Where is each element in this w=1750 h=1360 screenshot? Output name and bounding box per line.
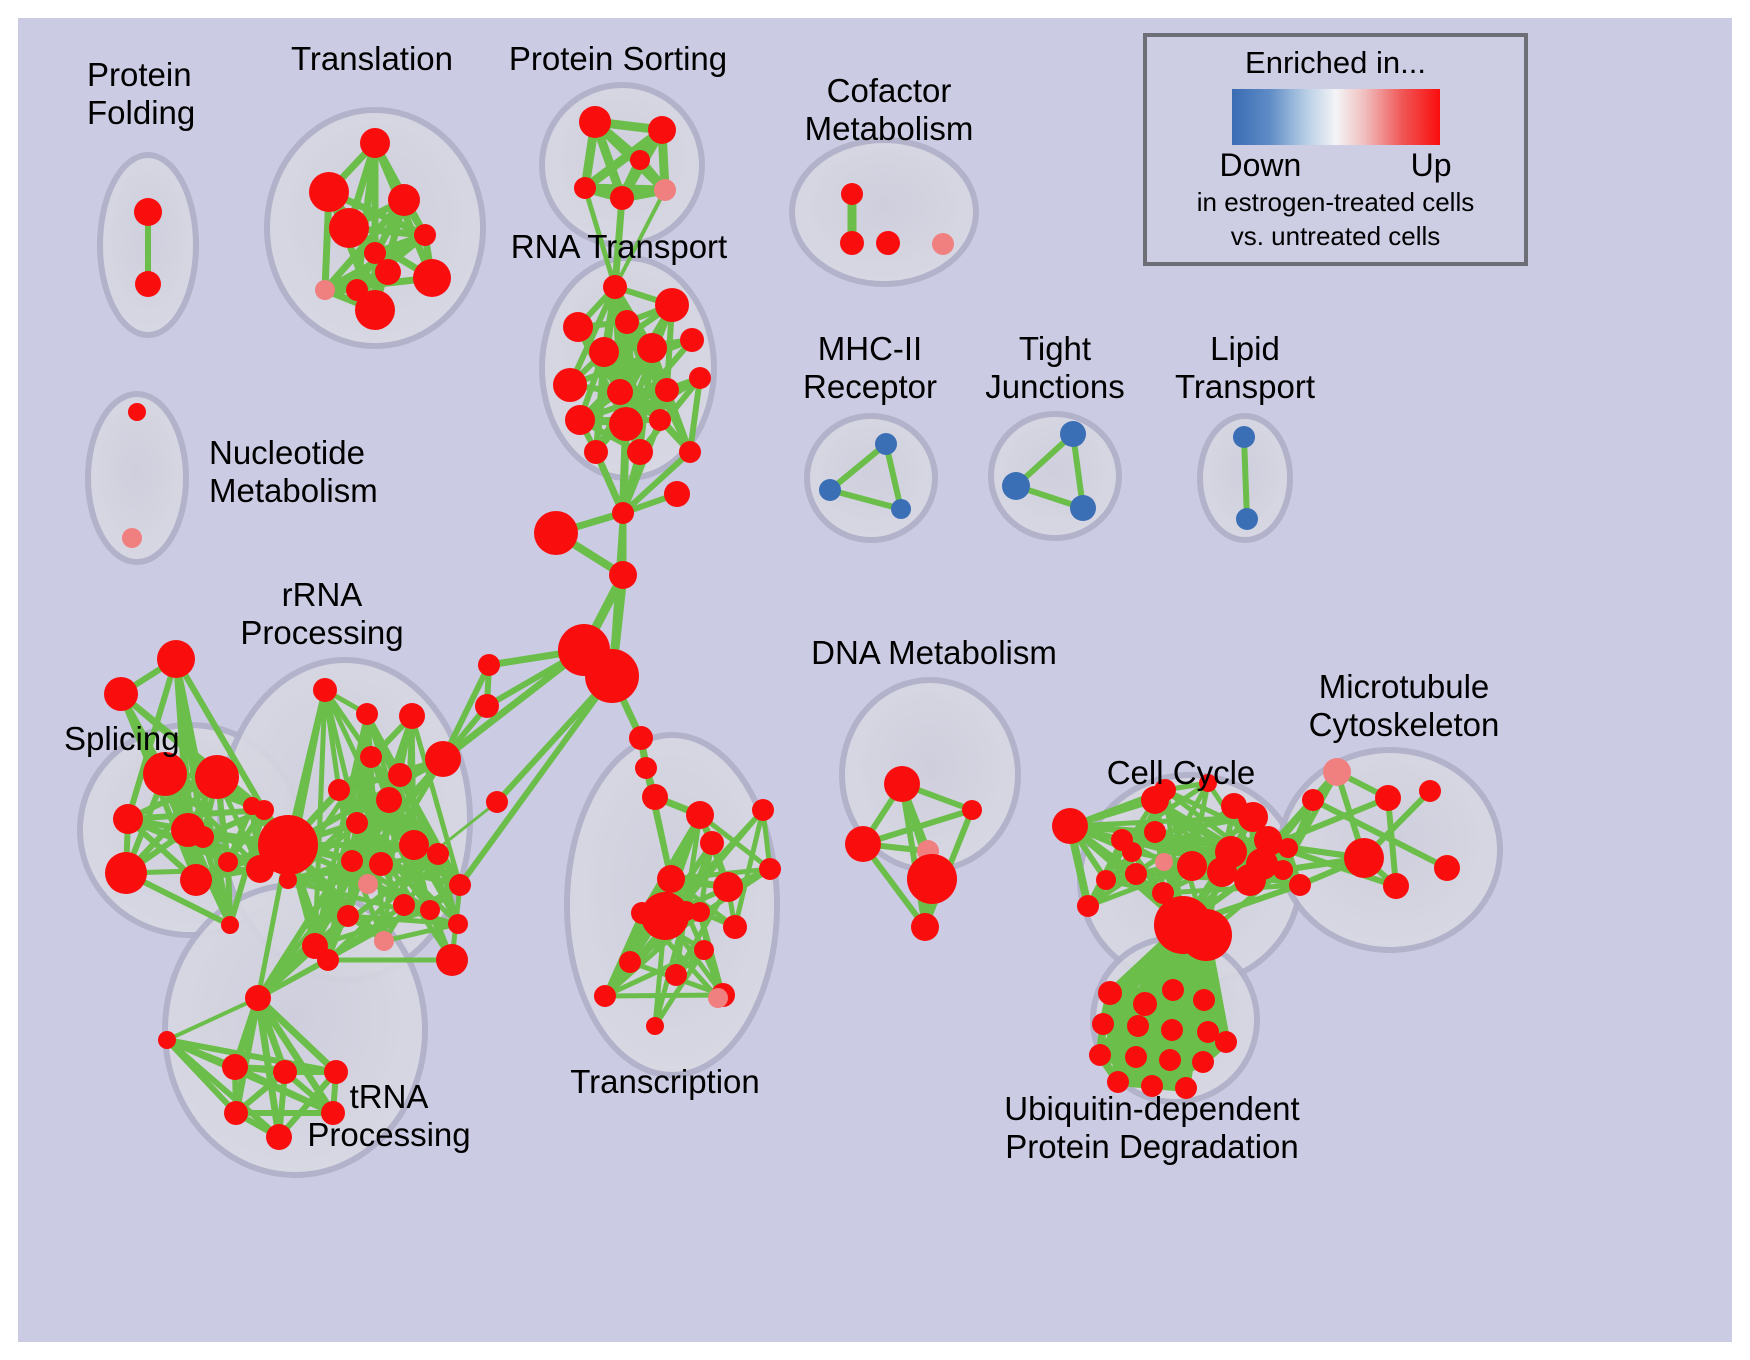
- network-edge: [605, 995, 723, 996]
- network-node[interactable]: [752, 799, 774, 821]
- network-node[interactable]: [195, 755, 239, 799]
- network-node[interactable]: [884, 766, 920, 802]
- network-node[interactable]: [664, 481, 690, 507]
- network-node[interactable]: [158, 1031, 176, 1049]
- network-node[interactable]: [1127, 1015, 1149, 1037]
- network-node[interactable]: [686, 801, 714, 829]
- network-node[interactable]: [642, 784, 668, 810]
- network-node[interactable]: [1383, 873, 1409, 899]
- network-node[interactable]: [478, 654, 500, 676]
- network-node[interactable]: [635, 757, 657, 779]
- network-node[interactable]: [630, 150, 650, 170]
- network-node[interactable]: [629, 726, 653, 750]
- network-node[interactable]: [1207, 857, 1237, 887]
- network-node[interactable]: [420, 900, 440, 920]
- network-node[interactable]: [1193, 989, 1215, 1011]
- network-node[interactable]: [1098, 981, 1122, 1005]
- network-node[interactable]: [610, 186, 634, 210]
- cluster-label-trna-processing: tRNA Processing: [307, 1078, 470, 1154]
- cluster-label-rna-transport: RNA Transport: [511, 228, 727, 266]
- network-node[interactable]: [574, 177, 596, 199]
- network-node[interactable]: [649, 409, 671, 431]
- cluster-label-nucleotide: Nucleotide Metabolism: [209, 434, 378, 510]
- network-node[interactable]: [266, 1124, 292, 1150]
- cluster-label-cofactor: Cofactor Metabolism: [805, 72, 974, 148]
- network-node[interactable]: [1070, 495, 1096, 521]
- cluster-hull-cofactor: [792, 140, 976, 284]
- network-node[interactable]: [1236, 508, 1258, 530]
- network-node[interactable]: [356, 703, 378, 725]
- network-node[interactable]: [655, 288, 689, 322]
- network-node[interactable]: [911, 913, 939, 941]
- network-node[interactable]: [1302, 789, 1324, 811]
- network-node[interactable]: [553, 368, 587, 402]
- network-node[interactable]: [374, 931, 394, 951]
- network-node[interactable]: [641, 892, 689, 940]
- network-node[interactable]: [436, 944, 468, 976]
- network-node[interactable]: [1144, 821, 1166, 843]
- network-node[interactable]: [315, 280, 335, 300]
- network-node[interactable]: [1077, 895, 1099, 917]
- network-node[interactable]: [1434, 855, 1460, 881]
- network-node[interactable]: [180, 864, 212, 896]
- network-node[interactable]: [603, 275, 627, 299]
- network-node[interactable]: [679, 441, 701, 463]
- network-node[interactable]: [1092, 1013, 1114, 1035]
- network-node[interactable]: [589, 337, 619, 367]
- network-node[interactable]: [135, 271, 161, 297]
- network-node[interactable]: [694, 940, 714, 960]
- network-node[interactable]: [907, 854, 957, 904]
- network-node[interactable]: [157, 640, 195, 678]
- network-node[interactable]: [376, 787, 402, 813]
- network-node[interactable]: [585, 649, 639, 703]
- network-node[interactable]: [646, 1017, 664, 1035]
- network-node[interactable]: [1159, 1049, 1181, 1071]
- network-node[interactable]: [328, 779, 350, 801]
- network-node[interactable]: [680, 328, 704, 352]
- network-node[interactable]: [841, 183, 863, 205]
- network-node[interactable]: [105, 852, 147, 894]
- network-node[interactable]: [932, 233, 954, 255]
- network-node[interactable]: [1323, 758, 1351, 786]
- network-node[interactable]: [689, 367, 711, 389]
- cluster-label-mhc-ii: MHC-II Receptor: [803, 330, 937, 406]
- network-node[interactable]: [657, 865, 685, 893]
- network-node[interactable]: [1002, 472, 1030, 500]
- network-node[interactable]: [700, 831, 724, 855]
- network-node[interactable]: [388, 184, 420, 216]
- network-node[interactable]: [1262, 835, 1282, 855]
- network-node[interactable]: [637, 333, 667, 363]
- cluster-label-dna-metabolism: DNA Metabolism: [811, 634, 1057, 672]
- network-node[interactable]: [708, 988, 728, 1008]
- network-node[interactable]: [1060, 421, 1086, 447]
- network-node[interactable]: [329, 208, 369, 248]
- network-node[interactable]: [346, 812, 368, 834]
- network-node[interactable]: [221, 916, 239, 934]
- network-node[interactable]: [819, 479, 841, 501]
- network-node[interactable]: [1289, 874, 1311, 896]
- network-node[interactable]: [594, 985, 616, 1007]
- network-node[interactable]: [1177, 851, 1207, 881]
- network-node[interactable]: [313, 678, 337, 702]
- network-node[interactable]: [279, 871, 297, 889]
- network-node[interactable]: [258, 815, 318, 875]
- network-node[interactable]: [224, 1101, 248, 1125]
- network-node[interactable]: [355, 290, 395, 330]
- network-node[interactable]: [143, 752, 187, 796]
- network-node[interactable]: [665, 964, 687, 986]
- network-node[interactable]: [648, 116, 676, 144]
- network-node[interactable]: [475, 694, 499, 718]
- legend-title: Enriched in...: [1245, 45, 1426, 81]
- network-node[interactable]: [1233, 426, 1255, 448]
- network-node[interactable]: [449, 874, 471, 896]
- network-node[interactable]: [388, 763, 412, 787]
- network-node[interactable]: [565, 405, 595, 435]
- cluster-label-ubiquitin: Ubiquitin-dependent Protein Degradation: [1004, 1090, 1299, 1166]
- cluster-label-microtubule: Microtubule Cytoskeleton: [1309, 668, 1500, 744]
- network-node[interactable]: [399, 703, 425, 729]
- network-node[interactable]: [1161, 1019, 1183, 1041]
- network-node[interactable]: [122, 528, 142, 548]
- legend-low-label: Down: [1220, 147, 1302, 184]
- network-node[interactable]: [579, 106, 611, 138]
- cluster-label-translation: Translation: [291, 40, 453, 78]
- network-node[interactable]: [222, 1054, 248, 1080]
- network-node[interactable]: [273, 1060, 297, 1084]
- cluster-label-protein-sorting: Protein Sorting: [509, 40, 727, 78]
- network-node[interactable]: [609, 407, 643, 441]
- network-node[interactable]: [243, 797, 261, 815]
- legend-subtitle-line1: in estrogen-treated cells: [1197, 186, 1474, 218]
- network-node[interactable]: [1125, 1046, 1147, 1068]
- network-node[interactable]: [1344, 838, 1384, 878]
- network-node[interactable]: [341, 850, 363, 872]
- network-node[interactable]: [1089, 1044, 1111, 1066]
- network-node[interactable]: [607, 379, 633, 405]
- network-node[interactable]: [1215, 1031, 1237, 1053]
- network-node[interactable]: [723, 915, 747, 939]
- network-node[interactable]: [1122, 842, 1142, 862]
- network-node[interactable]: [1125, 863, 1147, 885]
- cluster-label-splicing: Splicing: [64, 720, 180, 758]
- cluster-label-lipid-transport: Lipid Transport: [1175, 330, 1315, 406]
- network-node[interactable]: [891, 499, 911, 519]
- network-node[interactable]: [375, 259, 401, 285]
- cluster-label-cell-cycle: Cell Cycle: [1107, 754, 1256, 792]
- network-node[interactable]: [615, 310, 639, 334]
- network-node[interactable]: [1375, 785, 1401, 811]
- network-node[interactable]: [358, 874, 378, 894]
- network-node[interactable]: [713, 872, 743, 902]
- network-node[interactable]: [612, 502, 634, 524]
- network-node[interactable]: [619, 951, 641, 973]
- network-node[interactable]: [840, 231, 864, 255]
- network-figure: Protein FoldingTranslationProtein Sortin…: [0, 0, 1750, 1360]
- network-node[interactable]: [609, 561, 637, 589]
- network-node[interactable]: [627, 439, 653, 465]
- network-node[interactable]: [1273, 860, 1293, 880]
- network-node[interactable]: [584, 440, 608, 464]
- network-edge: [1244, 437, 1247, 519]
- network-node[interactable]: [1234, 864, 1266, 896]
- network-node[interactable]: [369, 852, 393, 876]
- network-node[interactable]: [414, 224, 436, 246]
- legend-subtitle-line2: vs. untreated cells: [1231, 220, 1441, 252]
- network-node[interactable]: [218, 852, 238, 872]
- network-node[interactable]: [654, 179, 676, 201]
- network-node[interactable]: [245, 985, 271, 1011]
- network-node[interactable]: [104, 677, 138, 711]
- network-node[interactable]: [128, 403, 146, 421]
- cluster-label-transcription: Transcription: [570, 1063, 760, 1101]
- network-node[interactable]: [413, 259, 451, 297]
- network-node[interactable]: [1162, 979, 1184, 1001]
- network-node[interactable]: [134, 198, 162, 226]
- network-node[interactable]: [113, 804, 143, 834]
- network-node[interactable]: [1180, 909, 1232, 961]
- network-node[interactable]: [655, 378, 679, 402]
- network-node[interactable]: [192, 826, 214, 848]
- network-node[interactable]: [845, 826, 881, 862]
- network-node[interactable]: [360, 128, 390, 158]
- network-node[interactable]: [875, 433, 897, 455]
- network-node[interactable]: [876, 231, 900, 255]
- network-node[interactable]: [360, 746, 382, 768]
- network-node[interactable]: [448, 914, 468, 934]
- network-node[interactable]: [534, 511, 578, 555]
- network-node[interactable]: [759, 858, 781, 880]
- cluster-hull-mhc-ii: [807, 416, 935, 540]
- cluster-label-tight-junctions: Tight Junctions: [985, 330, 1124, 406]
- network-node[interactable]: [317, 949, 339, 971]
- legend-box: Enriched in... Down Up in estrogen-treat…: [1143, 33, 1528, 266]
- network-node[interactable]: [399, 830, 429, 860]
- network-node[interactable]: [1096, 870, 1116, 890]
- legend-high-label: Up: [1411, 147, 1452, 184]
- network-node[interactable]: [563, 312, 593, 342]
- cluster-label-rrna-processing: rRNA Processing: [240, 576, 403, 652]
- network-node[interactable]: [1133, 992, 1157, 1016]
- network-node[interactable]: [962, 800, 982, 820]
- legend-color-bar: [1232, 89, 1440, 145]
- network-node[interactable]: [1419, 780, 1441, 802]
- network-node[interactable]: [309, 172, 349, 212]
- network-node[interactable]: [1155, 853, 1173, 871]
- network-node[interactable]: [393, 894, 415, 916]
- network-node[interactable]: [427, 843, 449, 865]
- network-node[interactable]: [1192, 1051, 1214, 1073]
- network-node[interactable]: [1052, 808, 1088, 844]
- network-node[interactable]: [425, 741, 461, 777]
- network-node[interactable]: [486, 791, 508, 813]
- network-node[interactable]: [337, 905, 359, 927]
- cluster-label-protein-folding: Protein Folding: [87, 56, 195, 132]
